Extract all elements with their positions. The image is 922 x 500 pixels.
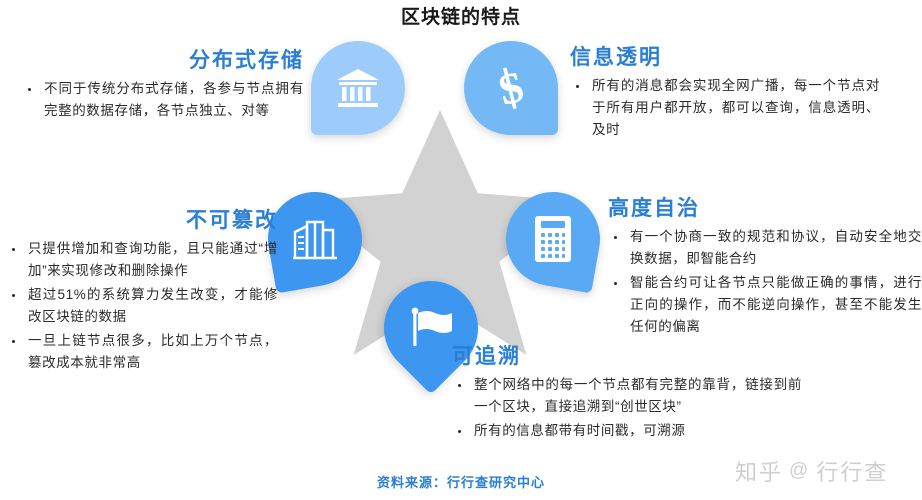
infographic-canvas: 区块链的特点 S (0, 0, 922, 500)
heading-traceable: 可追溯 (452, 344, 802, 370)
calculator-icon (534, 215, 572, 263)
list-item: 不同于传统分布式存储，各参与节点拥有完整的数据存储，各节点独立、对等 (22, 78, 304, 122)
flag-icon (408, 306, 454, 350)
bullets-traceable: 整个网络中的每一个节点都有完整的靠背，链接到前一个区块，直接追溯到“创世区块” … (452, 374, 802, 442)
pin-distributed-storage[interactable] (311, 41, 405, 135)
section-information-transparent: 信息透明 所有的消息都会实现全网广播，每一个节点对于所有用户都开放，都可以查询，… (570, 45, 880, 143)
list-item: 整个网络中的每一个节点都有完整的靠背，链接到前一个区块，直接追溯到“创世区块” (452, 374, 802, 418)
list-item: 所有的消息都会实现全网广播，每一个节点对于所有用户都开放，都可以查询，信息透明、… (570, 75, 880, 141)
list-item: 一旦上链节点很多，比如上万个节点，篡改成本就非常高 (6, 330, 278, 374)
watermark-account: 行行查 (816, 455, 888, 487)
bullets-autonomous: 有一个协商一致的规范和协议，自动安全地交换数据，即智能合约 智能合约可让各节点只… (608, 226, 922, 337)
pin-information-transparent[interactable]: S (464, 41, 558, 135)
watermark-at-symbol: @ (789, 460, 810, 482)
bullets-distributed-storage: 不同于传统分布式存储，各参与节点拥有完整的数据存储，各节点独立、对等 (22, 78, 304, 122)
dollar-sign-icon: S (491, 63, 531, 113)
section-distributed-storage: 分布式存储 不同于传统分布式存储，各参与节点拥有完整的数据存储，各节点独立、对等 (22, 48, 304, 124)
section-immutable: 不可篡改 只提供增加和查询功能，且只能通过“增加”来实现修改和删除操作 超过51… (6, 208, 278, 375)
bullets-information-transparent: 所有的消息都会实现全网广播，每一个节点对于所有用户都开放，都可以查询，信息透明、… (570, 75, 880, 141)
heading-autonomous: 高度自治 (608, 196, 922, 222)
section-traceable: 可追溯 整个网络中的每一个节点都有完整的靠背，链接到前一个区块，直接追溯到“创世… (452, 344, 802, 444)
heading-immutable: 不可篡改 (6, 208, 278, 234)
section-autonomous: 高度自治 有一个协商一致的规范和协议，自动安全地交换数据，即智能合约 智能合约可… (608, 196, 922, 340)
bullets-immutable: 只提供增加和查询功能，且只能通过“增加”来实现修改和删除操作 超过51%的系统算… (6, 238, 278, 373)
heading-distributed-storage: 分布式存储 (22, 48, 304, 74)
list-item: 有一个协商一致的规范和协议，自动安全地交换数据，即智能合约 (608, 226, 922, 270)
heading-information-transparent: 信息透明 (570, 45, 880, 71)
buildings-icon (291, 216, 339, 262)
watermark-site: 知乎 (735, 455, 783, 487)
list-item: 超过51%的系统算力发生改变，才能修改区块链的数据 (6, 284, 278, 328)
list-item: 所有的信息都带有时间戳，可溯源 (452, 420, 802, 442)
watermark: 知乎 @ 行行查 (735, 455, 888, 487)
list-item: 只提供增加和查询功能，且只能通过“增加”来实现修改和删除操作 (6, 238, 278, 282)
page-title: 区块链的特点 (0, 2, 922, 29)
list-item: 智能合约可让各节点只能做正确的事情，进行正向的操作，而不能逆向操作，甚至不能发生… (608, 272, 922, 338)
bank-columns-icon (335, 67, 381, 109)
